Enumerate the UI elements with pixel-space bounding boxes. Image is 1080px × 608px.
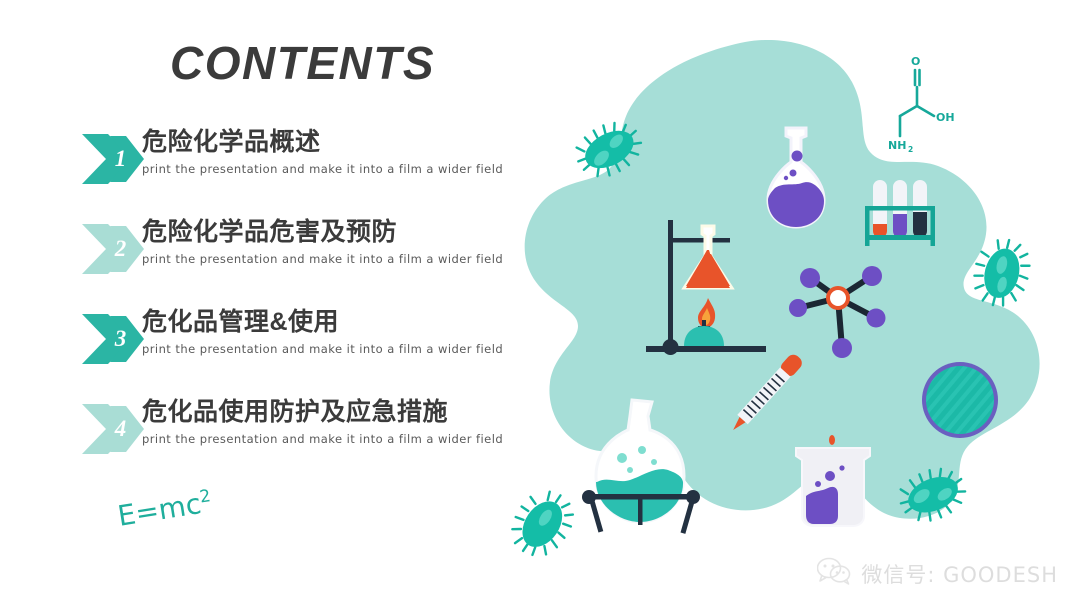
emc2-formula-decor: E=mc2: [115, 485, 214, 532]
slide-contents: CONTENTS 1 危险化学品概述 print the presentatio…: [0, 0, 1080, 608]
left-panel: CONTENTS 1 危险化学品概述 print the presentatio…: [0, 0, 500, 608]
arrow-badge-icon-3: [82, 314, 146, 364]
chemistry-illustration: O OH NH 2: [490, 20, 1080, 608]
toc-item-1[interactable]: 1 危险化学品概述 print the presentation and mak…: [82, 128, 502, 218]
toc-list: 1 危险化学品概述 print the presentation and mak…: [82, 128, 502, 488]
amino-label-nh2-sub: 2: [908, 145, 913, 154]
toc-item-2[interactable]: 2 危险化学品危害及预防 print the presentation and …: [82, 218, 502, 308]
watermark-text: 微信号: GOODESH: [861, 559, 1058, 589]
amino-acid-structure-icon: [900, 70, 934, 136]
test-tube-rack-icon: [865, 180, 935, 246]
toc-item-3[interactable]: 3 危化品管理&使用 print the presentation and ma…: [82, 308, 502, 398]
toc-item-4[interactable]: 4 危化品使用防护及应急措施 print the presentation an…: [82, 398, 502, 488]
amino-label-o: O: [911, 55, 920, 68]
bacteria-icon-bottom-left: [501, 481, 582, 566]
watermark: 微信号: GOODESH: [817, 557, 1058, 590]
page-title: CONTENTS: [170, 36, 435, 90]
emc2-exponent: 2: [198, 486, 212, 507]
amino-label-nh2: NH: [888, 139, 906, 152]
arrow-badge-icon-1: [82, 134, 146, 184]
petri-dish-icon: [922, 362, 998, 438]
amino-label-oh: OH: [936, 111, 955, 124]
wechat-icon: [817, 557, 851, 590]
arrow-badge-icon-4: [82, 404, 146, 454]
arrow-badge-icon-2: [82, 224, 146, 274]
emc2-base: E=mc: [115, 487, 203, 533]
blob-shape: [525, 40, 1040, 519]
